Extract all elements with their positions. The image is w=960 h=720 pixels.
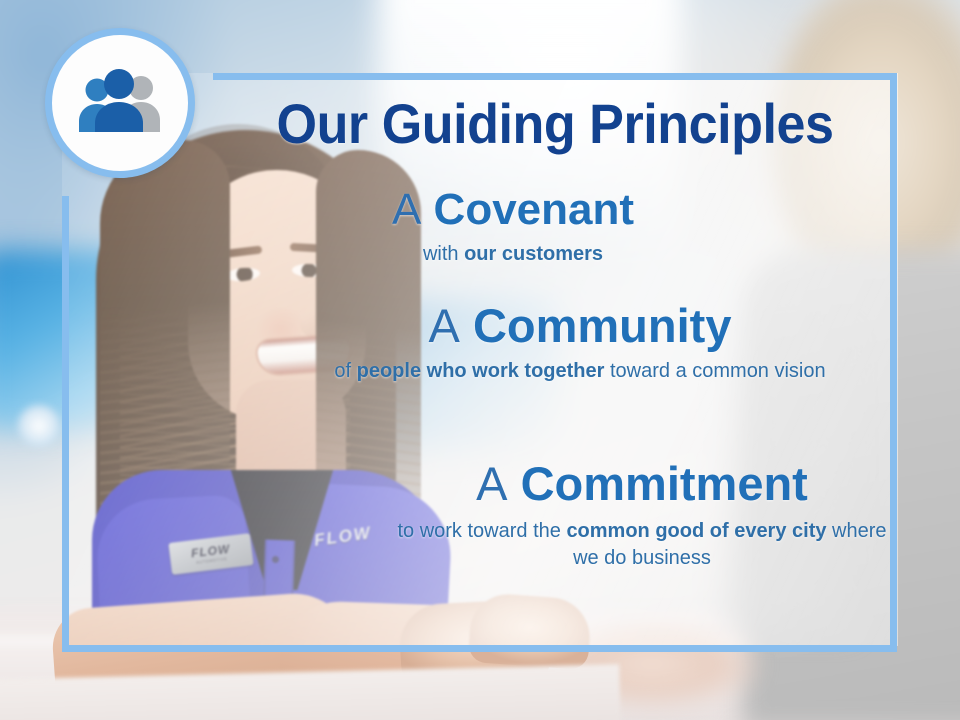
principle-subtext: of people who work together toward a com… [330, 358, 830, 385]
principle-subtext: with our customers [298, 241, 728, 268]
principle-article: A [476, 457, 507, 510]
principle-heading: A Community [330, 302, 830, 350]
principle-subtext-lead: to work toward the [397, 520, 566, 542]
principle-covenant: A Covenant with our customers [298, 188, 728, 267]
principle-subtext-bold: our customers [464, 243, 603, 265]
principle-article: A [392, 185, 421, 234]
principle-subtext-bold: people who work together [357, 360, 605, 382]
page-title: Our Guiding Principles [237, 96, 873, 152]
people-group-icon [72, 68, 168, 138]
principle-subtext-lead: with [423, 243, 464, 265]
principle-heading: A Commitment [392, 460, 892, 508]
people-group-badge [45, 28, 195, 178]
guiding-principles-graphic: FLOW AUTOMOTIVE FLOW Our [0, 0, 960, 720]
principle-subtext-bold: common good of every city [566, 520, 826, 542]
principle-commitment: A Commitment to work toward the common g… [392, 460, 892, 571]
principle-keyword: Community [473, 299, 732, 352]
principle-subtext-tail: toward a common vision [604, 360, 825, 382]
principle-subtext-lead: of [334, 360, 356, 382]
principle-article: A [429, 299, 460, 352]
principle-keyword: Covenant [434, 185, 634, 234]
principle-subtext: to work toward the common good of every … [392, 518, 892, 571]
principle-keyword: Commitment [521, 457, 808, 510]
principle-community: A Community of people who work together … [330, 302, 830, 385]
principle-heading: A Covenant [298, 188, 728, 233]
